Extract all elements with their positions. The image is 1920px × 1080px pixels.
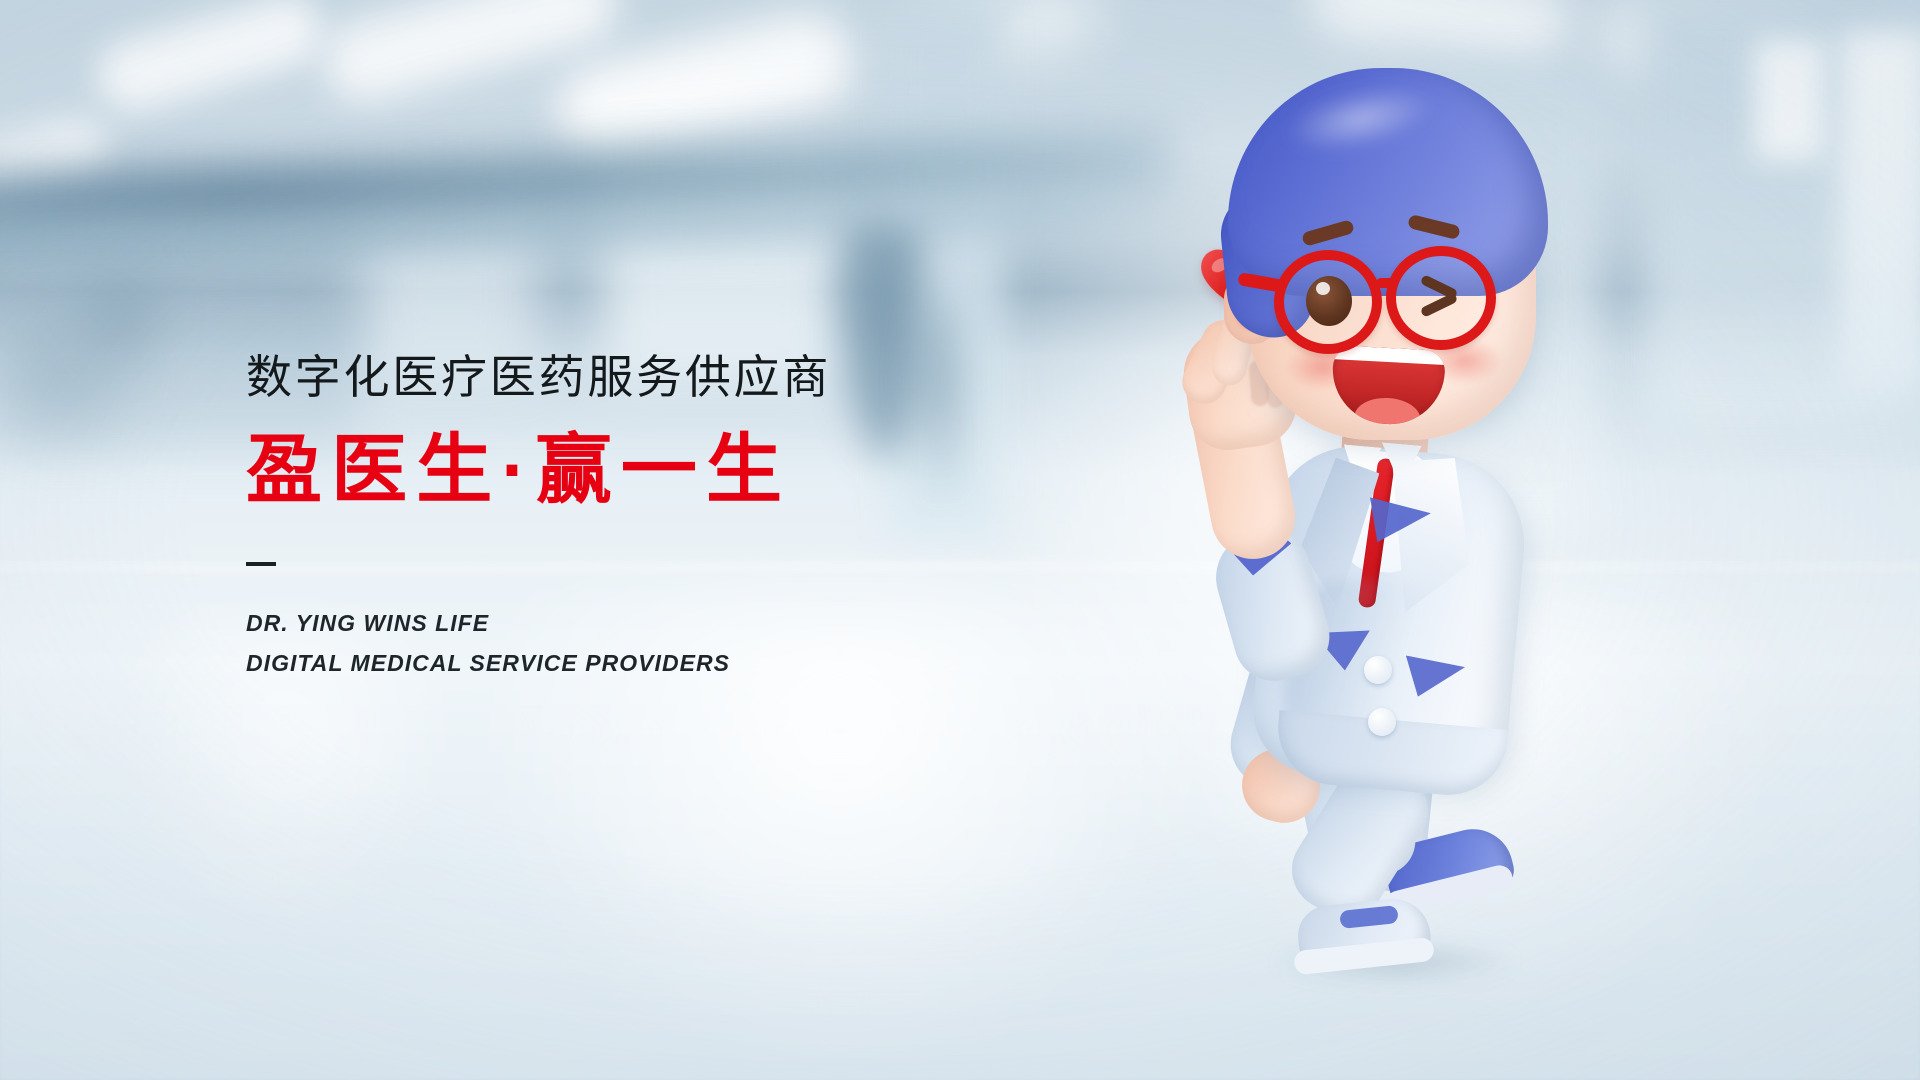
divider-rule [246,562,276,566]
mascot-coat-button-top [1364,656,1392,684]
hero-banner: 数字化医疗医药服务供应商 盈医生·赢一生 DR. YING WINS LIFE … [0,0,1920,1080]
glasses-bridge [1376,278,1398,288]
english-subtitle-line-2: DIGITAL MEDICAL SERVICE PROVIDERS [246,644,1026,684]
hero-slogan: 盈医生·赢一生 [246,431,1026,511]
mascot-tongue [1353,396,1421,427]
hero-copy-block: 数字化医疗医药服务供应商 盈医生·赢一生 DR. YING WINS LIFE … [246,352,1026,683]
english-subtitle-block: DR. YING WINS LIFE DIGITAL MEDICAL SERVI… [246,604,1026,683]
mascot-coat-button-bottom [1368,708,1396,736]
english-subtitle-line-1: DR. YING WINS LIFE [246,604,1026,644]
page-title: 数字化医疗医药服务供应商 [246,352,1026,403]
mascot-eye-open [1306,276,1352,326]
mascot-eye-wink [1416,274,1462,320]
doctor-mascot [1190,60,1620,1020]
mascot-eye-highlight [1316,282,1330,295]
